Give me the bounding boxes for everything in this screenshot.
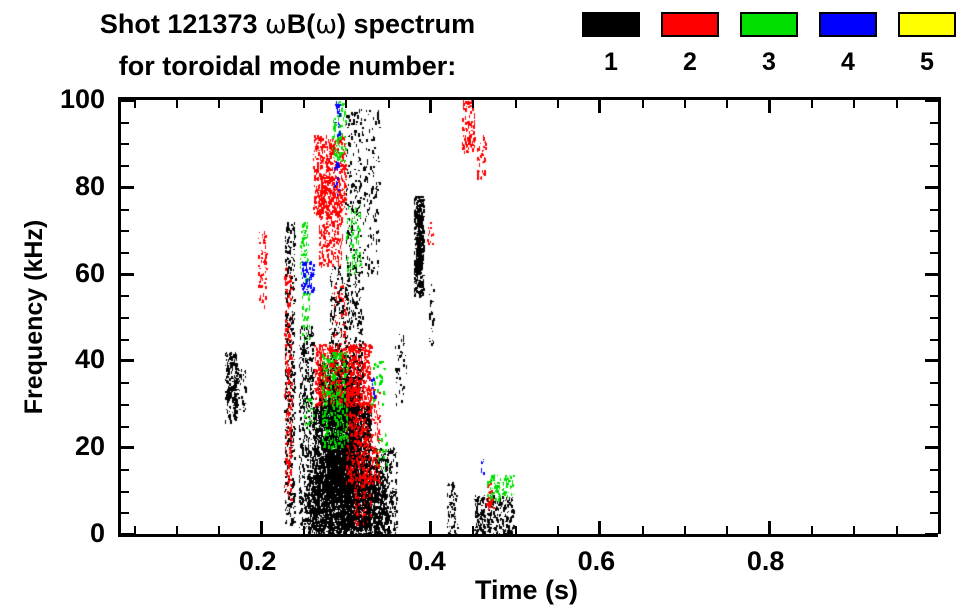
- legend-label-2: 2: [657, 50, 723, 75]
- y-tick-minor: [121, 404, 129, 406]
- y-tick-minor-right: [930, 295, 938, 297]
- x-tick-minor-top: [303, 100, 305, 108]
- x-tick-minor-top: [684, 100, 686, 108]
- x-tick-minor-top: [642, 100, 644, 108]
- legend-item-5: 5: [894, 0, 960, 75]
- x-tick-minor-top: [134, 100, 136, 108]
- legend: 1 2 3 4 5: [578, 0, 963, 95]
- y-tick-minor: [121, 252, 129, 254]
- x-tick-minor: [176, 526, 178, 534]
- y-tick-minor: [121, 122, 129, 124]
- legend-swatch-4: [819, 12, 877, 37]
- y-tick-label: 40: [5, 346, 105, 373]
- x-tick-major: [598, 521, 601, 534]
- y-tick-minor: [121, 469, 129, 471]
- x-tick-minor: [557, 526, 559, 534]
- omega-symbol-2: ω: [315, 10, 337, 40]
- figure-title: Shot 121373 ωB(ω) spectrum for toroidal …: [0, 0, 575, 95]
- x-tick-minor-top: [557, 100, 559, 108]
- y-tick-minor-right: [930, 382, 938, 384]
- y-tick-major: [121, 359, 134, 362]
- y-tick-label: 80: [5, 173, 105, 200]
- y-tick-major-right: [925, 359, 938, 362]
- plot-area: [118, 100, 938, 537]
- y-tick-minor-right: [930, 339, 938, 341]
- x-axis-title: Time (s): [118, 575, 935, 606]
- y-tick-major: [121, 273, 134, 276]
- x-tick-minor-top: [388, 100, 390, 108]
- x-tick-minor: [303, 526, 305, 534]
- legend-label-1: 1: [578, 50, 644, 75]
- y-tick-label: 60: [5, 260, 105, 287]
- y-tick-minor-right: [930, 404, 938, 406]
- x-tick-minor: [642, 526, 644, 534]
- y-tick-label: 20: [5, 433, 105, 460]
- y-tick-major: [121, 186, 134, 189]
- x-tick-minor: [896, 526, 898, 534]
- y-tick-label: 100: [5, 86, 105, 113]
- y-tick-minor-right: [930, 143, 938, 145]
- y-tick-minor-right: [930, 426, 938, 428]
- legend-label-4: 4: [815, 50, 881, 75]
- x-tick-minor-top: [938, 100, 940, 108]
- title-b-open: B(: [287, 9, 316, 39]
- x-tick-label: 0.6: [541, 548, 651, 575]
- y-tick-minor: [121, 339, 129, 341]
- x-tick-minor-top: [726, 100, 728, 108]
- y-tick-minor-right: [930, 165, 938, 167]
- spectrogram-canvas: [121, 100, 938, 534]
- legend-label-5: 5: [894, 50, 960, 75]
- y-tick-minor: [121, 143, 129, 145]
- x-tick-minor: [811, 526, 813, 534]
- legend-item-1: 1: [578, 0, 644, 75]
- y-axis-title: Frequency (kHz): [20, 100, 49, 534]
- plot-right-border: [938, 97, 941, 534]
- y-tick-minor: [121, 512, 129, 514]
- x-tick-major-top: [768, 100, 771, 113]
- y-tick-minor: [121, 295, 129, 297]
- y-tick-major: [121, 533, 134, 536]
- x-tick-minor: [726, 526, 728, 534]
- x-tick-major: [260, 521, 263, 534]
- x-tick-minor-top: [472, 100, 474, 108]
- x-tick-minor: [345, 526, 347, 534]
- x-tick-minor: [684, 526, 686, 534]
- y-tick-minor-right: [930, 469, 938, 471]
- y-tick-minor: [121, 382, 129, 384]
- x-tick-minor: [938, 526, 940, 534]
- legend-swatch-1: [582, 12, 640, 37]
- x-tick-minor: [134, 526, 136, 534]
- y-tick-minor-right: [930, 317, 938, 319]
- y-tick-minor-right: [930, 230, 938, 232]
- y-tick-major-right: [925, 446, 938, 449]
- y-tick-minor-right: [930, 512, 938, 514]
- title-spectrum-text: ) spectrum: [337, 9, 475, 39]
- x-tick-major: [429, 521, 432, 534]
- title-line-1: Shot 121373 ωB(ω) spectrum: [0, 8, 575, 42]
- y-tick-major-right: [925, 273, 938, 276]
- x-tick-label: 0.4: [372, 548, 482, 575]
- x-tick-minor: [515, 526, 517, 534]
- x-tick-major-top: [598, 100, 601, 113]
- legend-item-4: 4: [815, 0, 881, 75]
- x-tick-minor: [388, 526, 390, 534]
- x-tick-minor: [853, 526, 855, 534]
- x-tick-minor: [472, 526, 474, 534]
- y-tick-minor: [121, 165, 129, 167]
- x-tick-minor-top: [811, 100, 813, 108]
- x-tick-minor-top: [176, 100, 178, 108]
- y-tick-minor-right: [930, 491, 938, 493]
- x-tick-label: 0.8: [711, 548, 821, 575]
- x-tick-minor-top: [345, 100, 347, 108]
- y-tick-minor-right: [930, 209, 938, 211]
- spectrogram-canvas-wrap: [121, 100, 938, 534]
- x-tick-major: [768, 521, 771, 534]
- x-tick-minor-top: [515, 100, 517, 108]
- y-axis-title-wrap: Frequency (kHz): [20, 100, 50, 534]
- spectrogram-figure: Shot 121373 ωB(ω) spectrum for toroidal …: [0, 0, 963, 615]
- omega-symbol-1: ω: [265, 10, 287, 40]
- y-tick-minor-right: [930, 122, 938, 124]
- y-tick-major-right: [925, 186, 938, 189]
- legend-swatch-3: [740, 12, 798, 37]
- y-tick-minor-right: [930, 252, 938, 254]
- x-tick-minor-top: [896, 100, 898, 108]
- title-line-2: for toroidal mode number:: [0, 50, 575, 83]
- y-tick-major-right: [925, 533, 938, 536]
- legend-item-3: 3: [736, 0, 802, 75]
- y-tick-minor: [121, 426, 129, 428]
- x-tick-major-top: [260, 100, 263, 113]
- x-tick-minor-top: [853, 100, 855, 108]
- legend-item-2: 2: [657, 0, 723, 75]
- y-tick-label: 0: [5, 520, 105, 547]
- y-tick-major: [121, 99, 134, 102]
- y-tick-minor: [121, 317, 129, 319]
- legend-swatch-2: [661, 12, 719, 37]
- y-tick-minor: [121, 491, 129, 493]
- title-shot-text: Shot 121373: [100, 9, 265, 39]
- y-tick-minor: [121, 230, 129, 232]
- x-tick-label: 0.2: [203, 548, 313, 575]
- x-tick-minor-top: [218, 100, 220, 108]
- y-tick-minor: [121, 209, 129, 211]
- x-tick-major-top: [429, 100, 432, 113]
- legend-swatch-5: [898, 12, 956, 37]
- legend-label-3: 3: [736, 50, 802, 75]
- x-tick-minor: [218, 526, 220, 534]
- y-tick-major: [121, 446, 134, 449]
- y-tick-major-right: [925, 99, 938, 102]
